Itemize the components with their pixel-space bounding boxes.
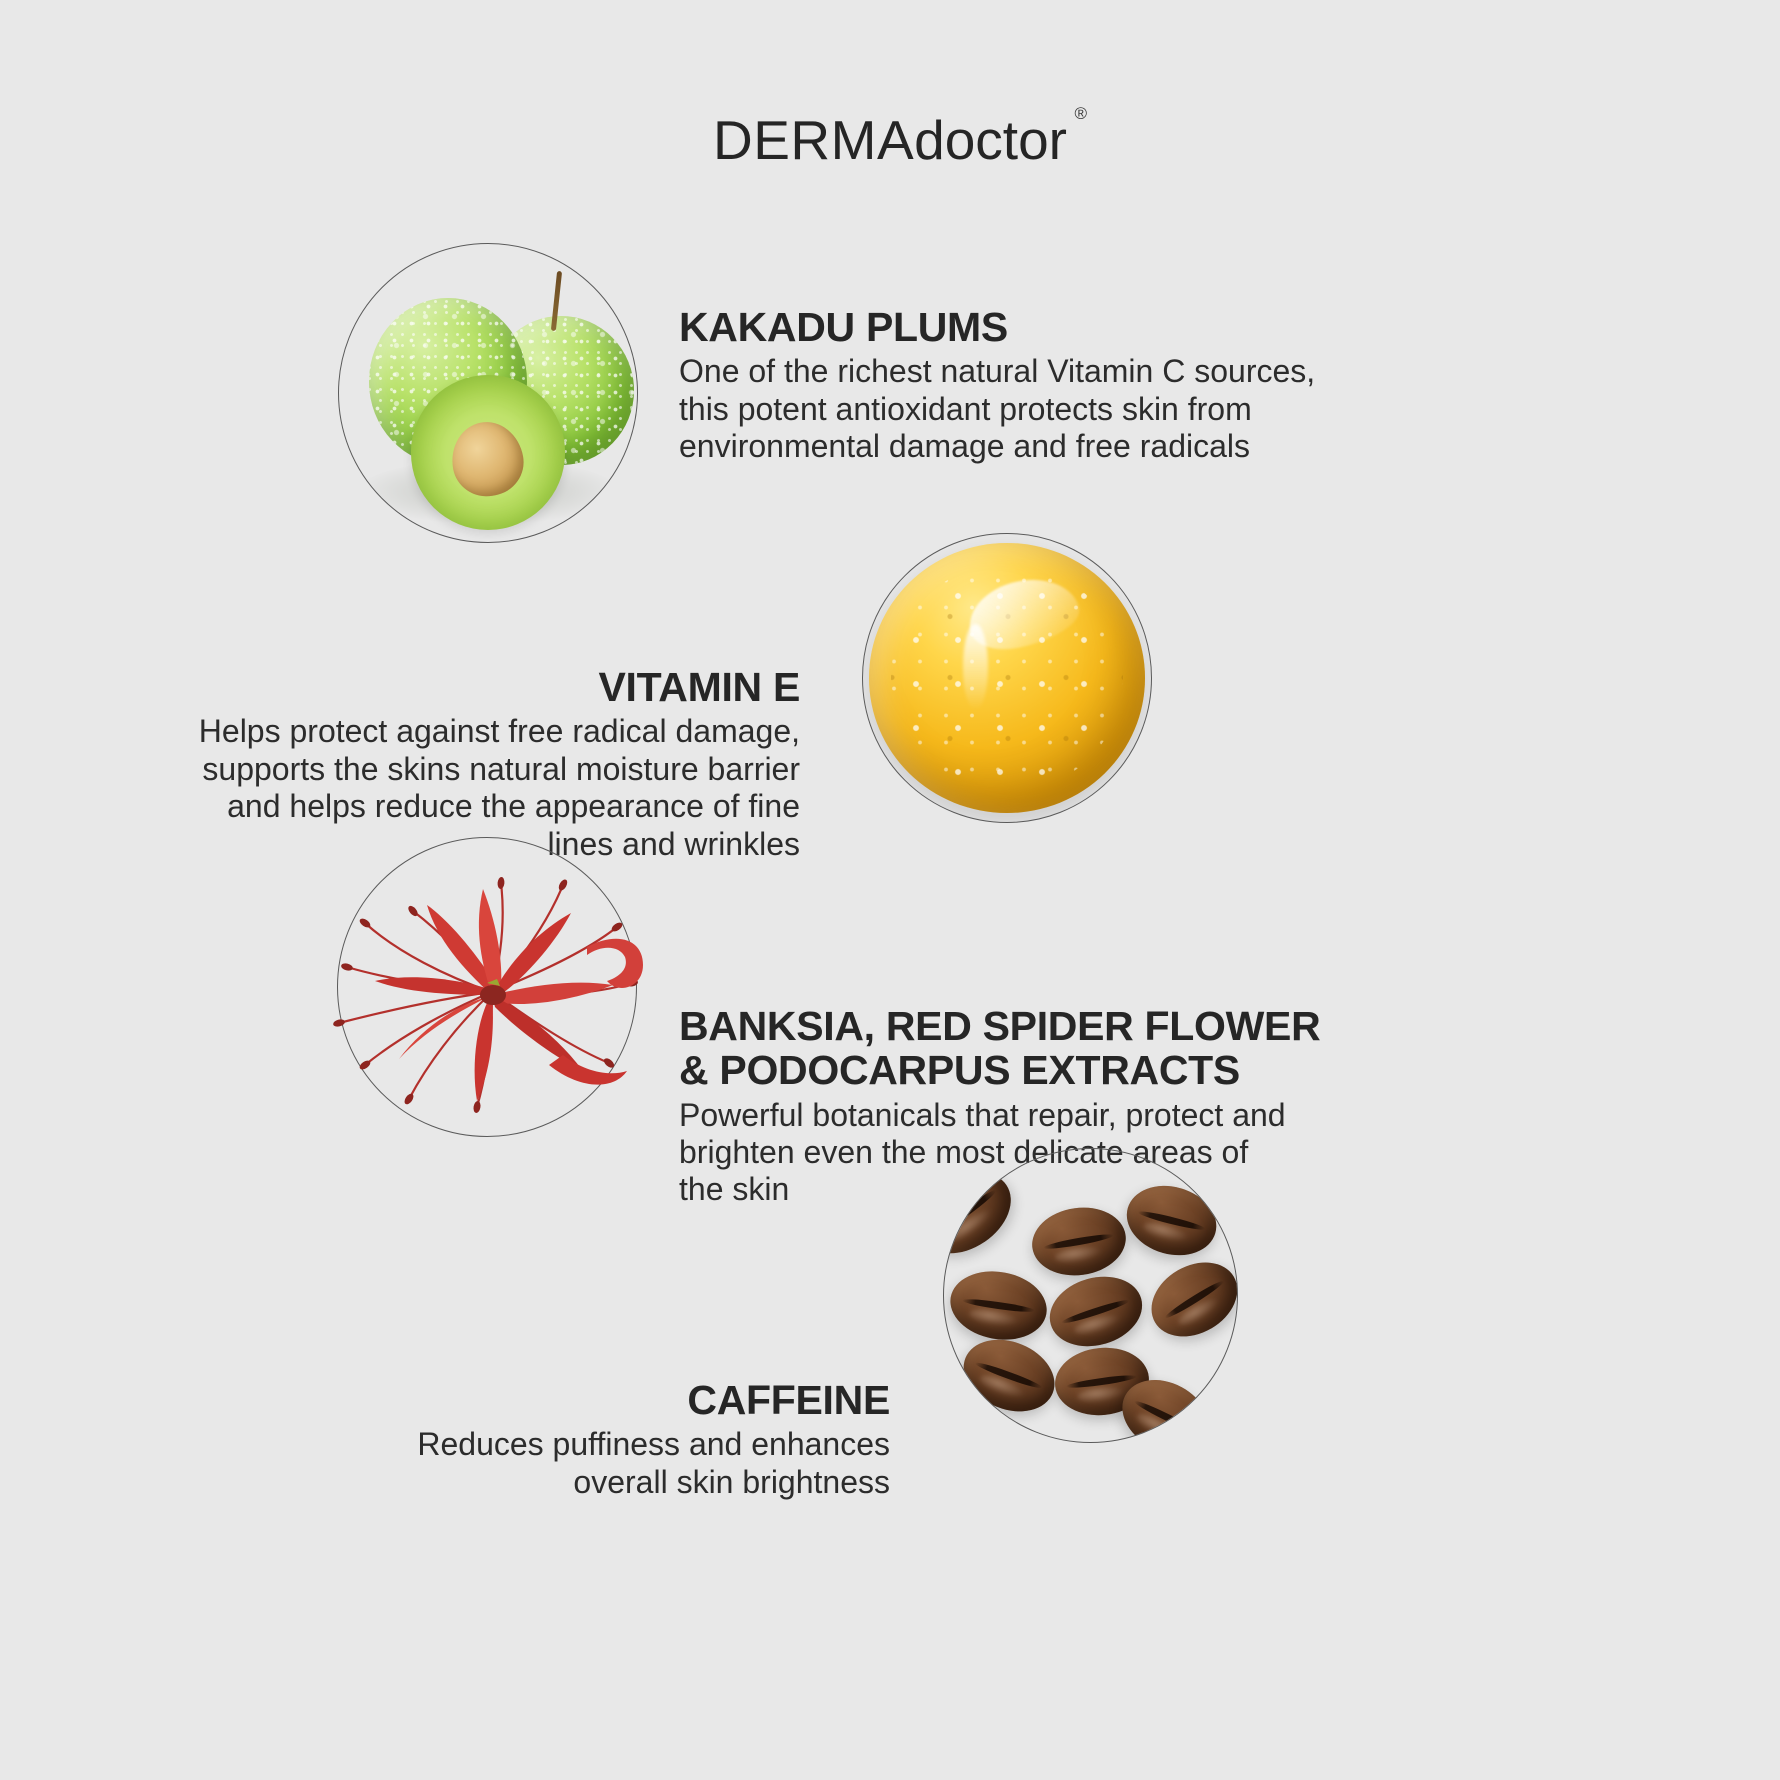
vitamin-e-image-circle [862, 533, 1152, 823]
flower-petals [375, 889, 643, 1101]
coffee-bean [1042, 1266, 1151, 1357]
oil-droplet [869, 543, 1145, 814]
vitamin-e-title: VITAMIN E [85, 665, 800, 709]
brand-name-light: doctor [914, 109, 1067, 171]
coffee-bean [945, 1264, 1052, 1347]
caffeine-body: Reduces puffiness and enhances overall s… [200, 1426, 890, 1501]
brand-header: DERMAdoctor® [0, 108, 1780, 172]
brand-name-bold: DERMA [713, 109, 914, 171]
caffeine-title: CAFFEINE [200, 1378, 890, 1422]
red-spider-flower-photo [287, 827, 687, 1147]
coffee-bean [1028, 1201, 1130, 1281]
oil-highlight-streak [963, 624, 988, 711]
coffee-bean [1138, 1248, 1237, 1352]
plum-pit [446, 416, 529, 502]
kakadu-plums-title: KAKADU PLUMS [679, 305, 1439, 349]
coffee-beans-photo [944, 1149, 1237, 1442]
registered-trademark-icon: ® [1074, 104, 1087, 124]
kakadu-plums-image-circle [338, 243, 638, 543]
plum-fruit-halved [411, 375, 566, 530]
kakadu-plums-text-block: KAKADU PLUMS One of the richest natural … [679, 305, 1439, 466]
coffee-beans-image-circle [943, 1148, 1238, 1443]
infographic-page: DERMAdoctor® [0, 0, 1780, 1780]
botanical-extracts-title: BANKSIA, RED SPIDER FLOWER & PODOCARPUS … [679, 1004, 1469, 1093]
caffeine-text-block: CAFFEINE Reduces puffiness and enhances … [200, 1378, 890, 1501]
brand-logo: DERMAdoctor® [713, 108, 1067, 172]
kakadu-plums-photo [339, 244, 637, 542]
vitamin-e-oil-drop-photo [863, 534, 1151, 822]
kakadu-plums-body: One of the richest natural Vitamin C sou… [679, 353, 1439, 465]
coffee-bean [952, 1327, 1064, 1425]
